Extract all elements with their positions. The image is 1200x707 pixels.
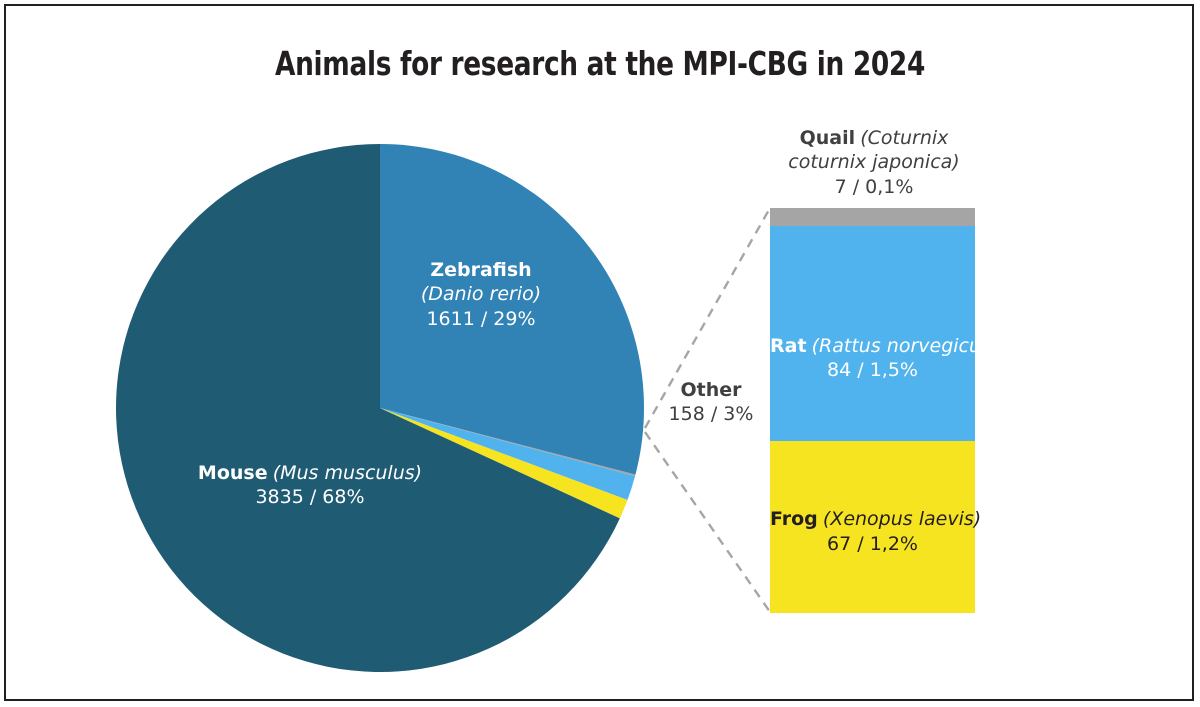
bar-label-quail-latin2: coturnix japonica) xyxy=(762,150,986,174)
pie-label-mouse-name: Mouse (Mus musculus) xyxy=(160,461,460,485)
bar-segment-rat[interactable]: Rat (Rattus norvegicus) 84 / 1,5% xyxy=(770,226,975,441)
pie-label-mouse-value: 3835 / 68% xyxy=(160,485,460,509)
bar-label-frog-latin: (Xenopus laevis) xyxy=(823,508,981,530)
chart-page: Animals for research at the MPI-CBG in 2… xyxy=(0,0,1200,707)
pie-svg xyxy=(116,144,644,672)
bar-label-frog-common: Frog xyxy=(770,508,818,530)
bar-segment-quail[interactable] xyxy=(770,208,975,226)
pie-label-mouse-common: Mouse xyxy=(198,462,268,484)
bar-label-rat: Rat (Rattus norvegicus) 84 / 1,5% xyxy=(770,334,975,383)
page-title: Animals for research at the MPI-CBG in 2… xyxy=(120,44,1080,83)
bar-label-quail-common: Quail xyxy=(800,127,856,149)
pie-label-zebrafish: Zebrafish (Danio rerio) 1611 / 29% xyxy=(386,258,576,331)
stacked-bar-other-breakdown: Rat (Rattus norvegicus) 84 / 1,5% Frog (… xyxy=(770,208,975,613)
pie-label-other: Other 158 / 3% xyxy=(648,378,774,427)
bar-label-quail: Quail (Coturnix coturnix japonica) 7 / 0… xyxy=(762,126,986,199)
pie-label-other-common: Other xyxy=(648,378,774,402)
pie-label-mouse-latin: (Mus musculus) xyxy=(273,462,422,484)
pie-label-mouse: Mouse (Mus musculus) 3835 / 68% xyxy=(160,461,460,510)
bar-label-frog: Frog (Xenopus laevis) 67 / 1,2% xyxy=(770,507,975,556)
connector-line-bottom xyxy=(645,432,770,612)
pie-label-zebrafish-latin: (Danio rerio) xyxy=(386,282,576,306)
bar-label-quail-line1: Quail (Coturnix xyxy=(762,126,986,150)
bar-label-rat-common: Rat xyxy=(770,335,807,357)
pie-chart xyxy=(116,144,644,672)
pie-label-other-value: 158 / 3% xyxy=(648,402,774,426)
bar-label-rat-value: 84 / 1,5% xyxy=(770,358,975,382)
bar-segment-frog[interactable]: Frog (Xenopus laevis) 67 / 1,2% xyxy=(770,441,975,613)
pie-label-zebrafish-value: 1611 / 29% xyxy=(386,307,576,331)
bar-label-quail-value: 7 / 0,1% xyxy=(762,175,986,199)
bar-label-rat-latin: (Rattus norvegicus) xyxy=(812,335,999,357)
bar-label-frog-value: 67 / 1,2% xyxy=(770,532,975,556)
pie-label-zebrafish-common: Zebrafish xyxy=(386,258,576,282)
bar-label-rat-name: Rat (Rattus norvegicus) xyxy=(770,334,975,358)
bar-label-frog-name: Frog (Xenopus laevis) xyxy=(770,507,975,531)
bar-label-quail-latin1: (Coturnix xyxy=(860,127,948,149)
